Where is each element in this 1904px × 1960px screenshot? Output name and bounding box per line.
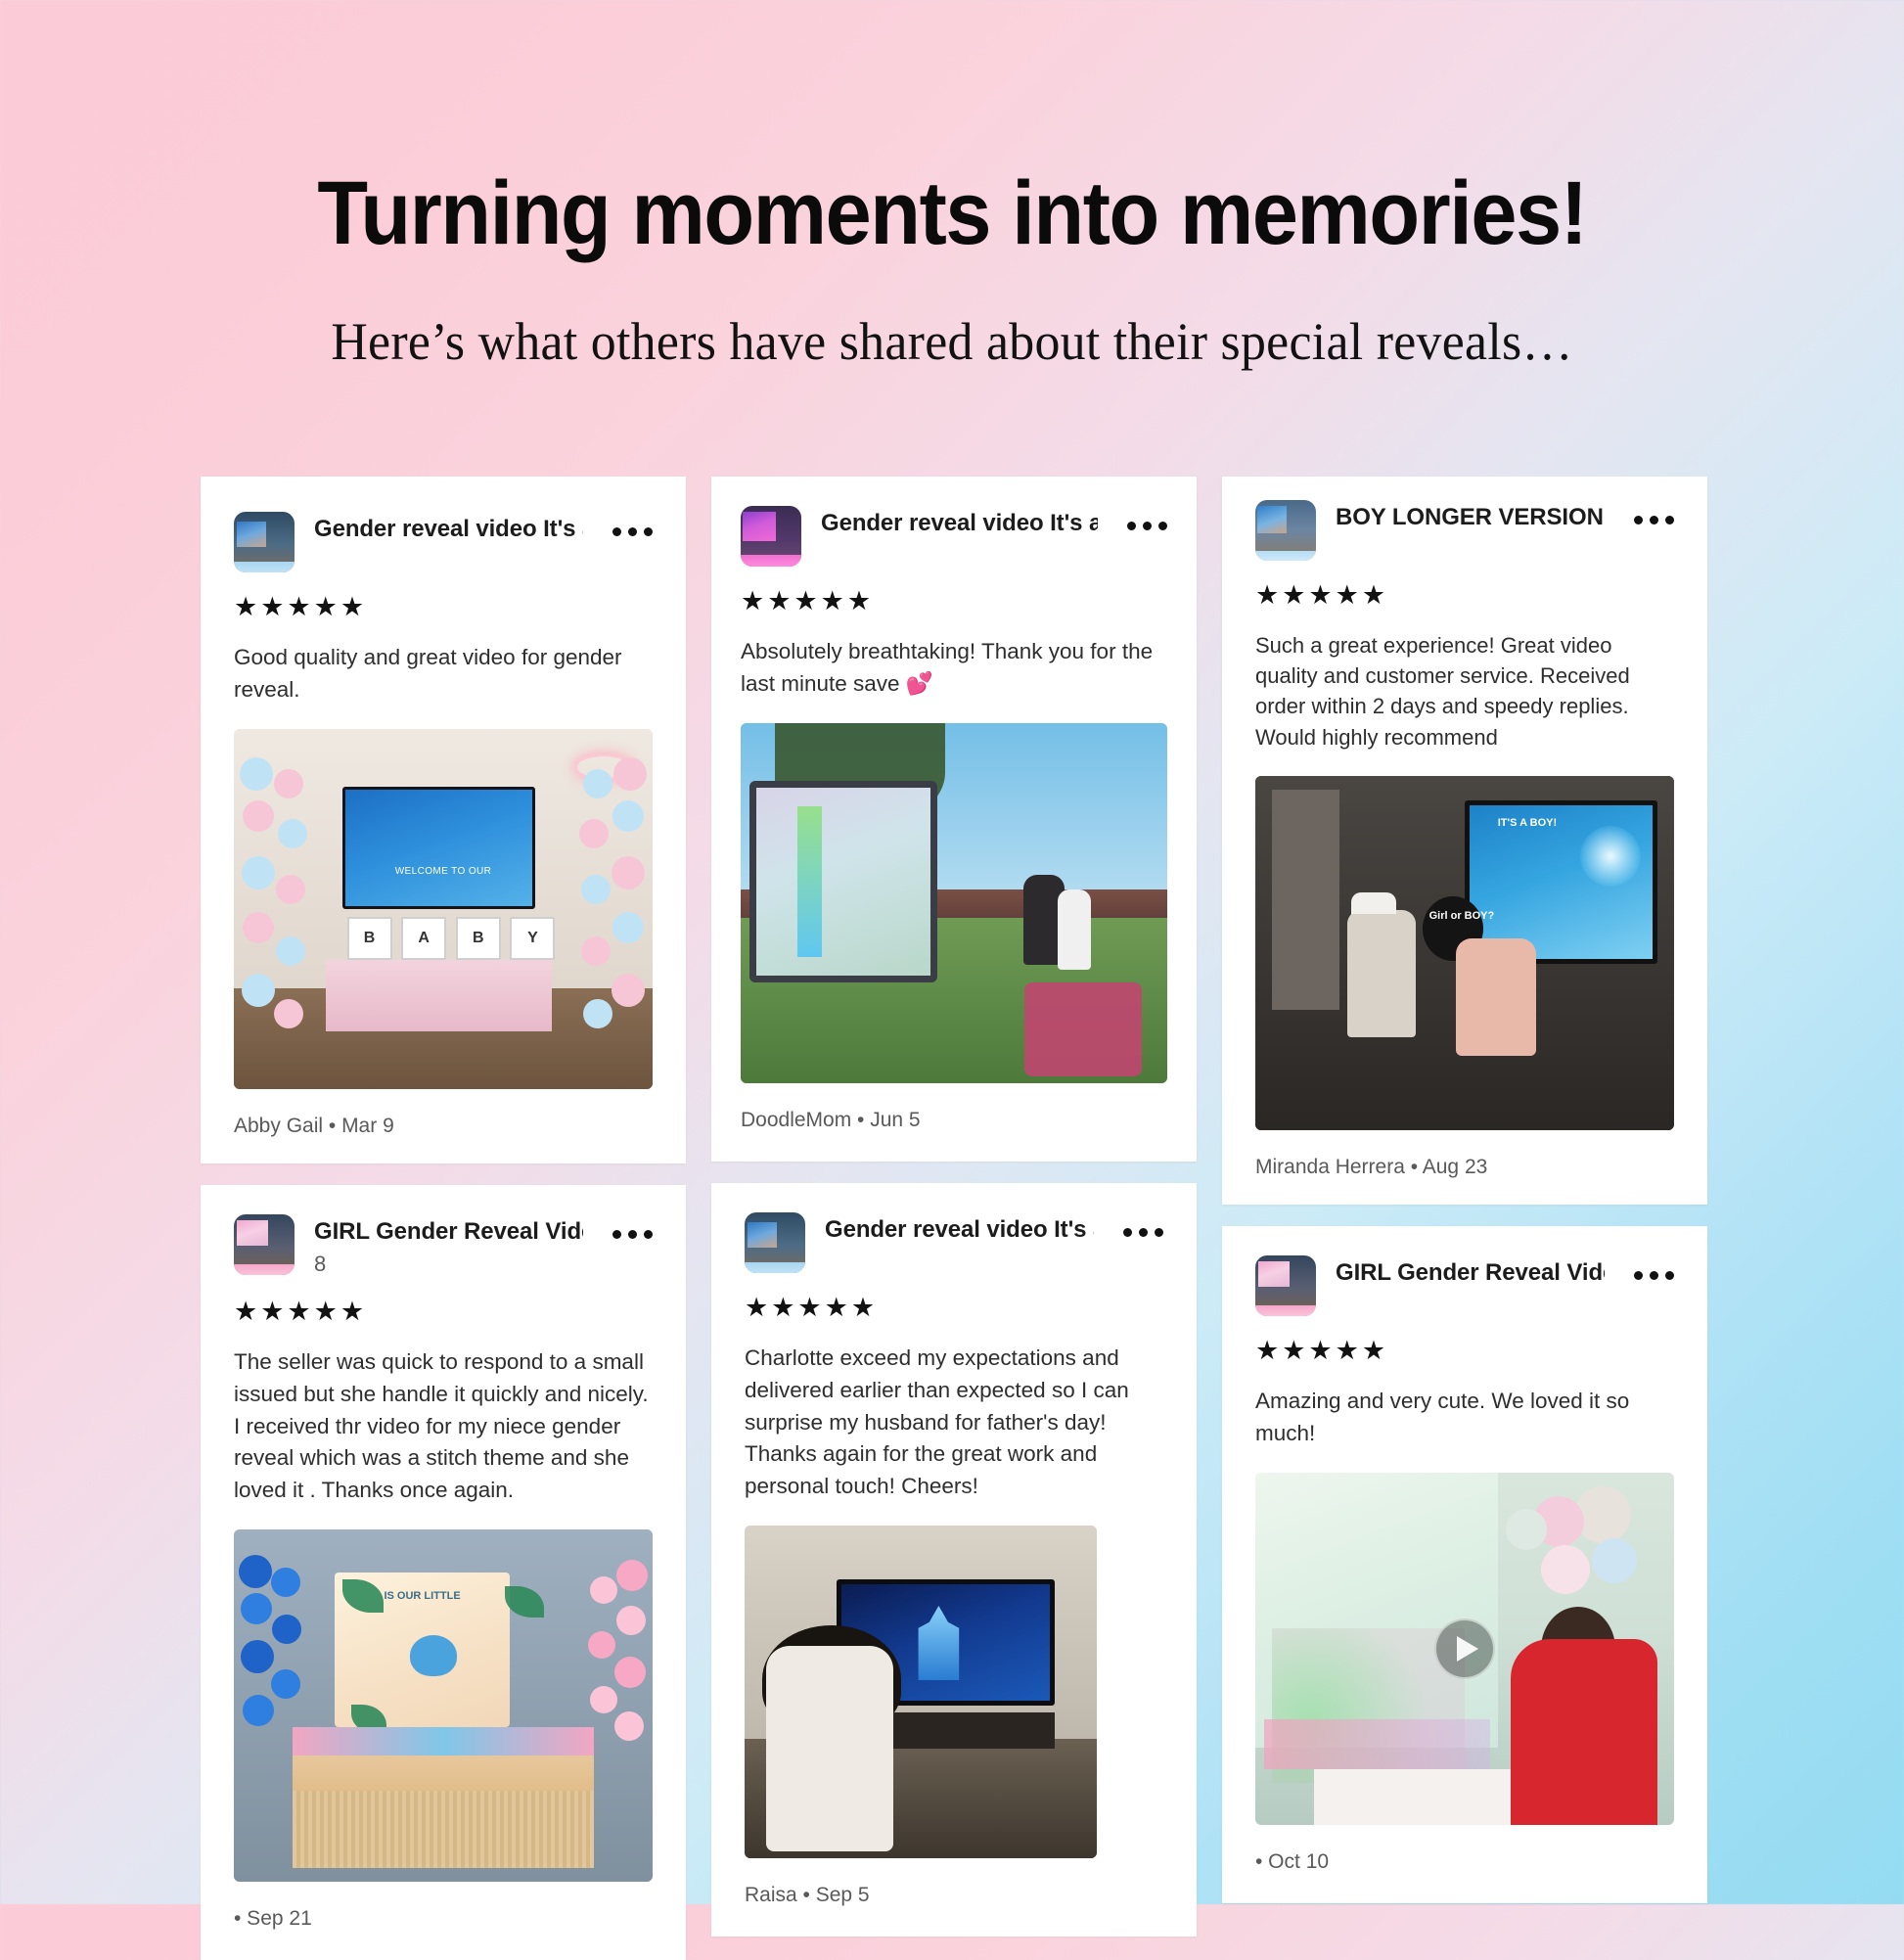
review-product-info: Gender reveal video It's a Boy! Vide… [314,512,583,543]
reviews-grid: Gender reveal video It's a Boy! Vide… ★★… [201,477,1707,1960]
review-text: Good quality and great video for gender … [234,642,653,706]
product-title[interactable]: Gender reveal video It's a Boy! Vide… [825,1216,1094,1244]
review-author: • Sep 21 [234,1907,653,1931]
balloon-arch-left [234,751,326,1060]
product-thumbnail-girl-icon[interactable] [1255,1255,1316,1316]
letter-block: B [347,917,392,960]
product-thumbnail-girl-icon[interactable] [234,1214,295,1275]
photo3-balloon-caption: Girl or BOY? [1429,910,1495,922]
star-rating: ★★★★★ [234,594,653,620]
review-card[interactable]: Gender reveal video It's a Boy! Vide… ★★… [711,1183,1197,1937]
review-card[interactable]: GIRL Gender Reveal Video digital … ★★★★★… [1222,1226,1707,1903]
play-icon[interactable] [1434,1618,1495,1679]
balloon-arch-left [234,1551,318,1762]
review-card-header: BOY LONGER VERSION Gender … [1255,500,1674,561]
review-text: Absolutely breathtaking! Thank you for t… [741,636,1167,700]
review-card-header: Gender reveal video It's a Boy! Vide… [745,1212,1163,1273]
product-title[interactable]: GIRL Gender Reveal Video digital … [314,1218,583,1246]
review-text: The seller was quick to respond to a sma… [234,1346,653,1506]
product-thumbnail-boy-icon[interactable] [745,1212,805,1273]
more-options-icon[interactable] [612,512,653,536]
review-photo[interactable] [745,1526,1097,1858]
photo-outdoor-projector-lawn [741,723,1167,1083]
letter-block: B [456,917,501,960]
product-thumbnail-boy-icon[interactable] [234,512,295,572]
balloon-arch-right [561,751,653,1060]
product-title[interactable]: GIRL Gender Reveal Video digital … [1336,1259,1605,1287]
more-options-icon[interactable] [612,1214,653,1239]
review-card-header: Gender reveal video It's a Boy! Vide… [234,512,653,572]
review-product-info: GIRL Gender Reveal Video digital … [1336,1255,1605,1287]
star-rating: ★★★★★ [741,588,1167,615]
photo-gender-reveal-room: WELCOME TO OUR B A B Y [234,729,653,1089]
more-options-icon[interactable] [1634,500,1674,524]
review-text: Such a great experience! Great video qua… [1255,630,1674,752]
review-author: Miranda Herrera • Aug 23 [1255,1156,1674,1179]
review-video[interactable] [1255,1473,1674,1825]
photo-stitch-party-table: IS OUR LITTLE [234,1529,653,1882]
product-title[interactable]: Gender reveal video It's a Girl! Vide… [821,510,1098,537]
review-text: Charlotte exceed my expectations and del… [745,1343,1163,1502]
review-photo[interactable]: WELCOME TO OUR B A B Y [234,729,653,1089]
review-author: Abby Gail • Mar 9 [234,1115,653,1138]
review-product-info: Gender reveal video It's a Girl! Vide… [821,506,1098,537]
review-product-info: Gender reveal video It's a Boy! Vide… [825,1212,1094,1244]
product-variant: 8 [314,1252,583,1277]
page-title: Turning moments into memories! [76,168,1828,260]
review-card[interactable]: Gender reveal video It's a Boy! Vide… ★★… [201,477,686,1163]
review-card-header: GIRL Gender Reveal Video digital … 8 [234,1214,653,1277]
page-subtitle: Here’s what others have shared about the… [38,313,1866,371]
letter-block: Y [510,917,555,960]
review-author: DoodleMom • Jun 5 [741,1109,1167,1132]
reviews-column-3: BOY LONGER VERSION Gender … ★★★★★ Such a… [1222,477,1707,1903]
review-product-info: GIRL Gender Reveal Video digital … 8 [314,1214,583,1277]
review-card-header: Gender reveal video It's a Girl! Vide… [741,506,1167,567]
review-photo[interactable] [741,723,1167,1083]
photo-child-watching-tv [745,1526,1097,1858]
photo3-tv-caption: IT'S A BOY! [1498,818,1557,830]
more-options-icon[interactable] [1127,506,1167,530]
more-options-icon[interactable] [1123,1212,1163,1237]
review-author: • Oct 10 [1255,1850,1674,1874]
star-rating: ★★★★★ [1255,1338,1674,1364]
review-card[interactable]: Gender reveal video It's a Girl! Vide… ★… [711,477,1197,1162]
product-thumbnail-girl-icon[interactable] [741,506,801,567]
star-rating: ★★★★★ [234,1299,653,1325]
review-photo[interactable]: IT'S A BOY! Girl or BOY? [1255,776,1674,1130]
review-card-header: GIRL Gender Reveal Video digital … [1255,1255,1674,1316]
review-text: Amazing and very cute. We loved it so mu… [1255,1386,1674,1449]
star-rating: ★★★★★ [745,1295,1163,1321]
product-thumbnail-boy-long-icon[interactable] [1255,500,1316,561]
page-header: Turning moments into memories! Here’s wh… [0,0,1904,371]
review-card[interactable]: GIRL Gender Reveal Video digital … 8 ★★★… [201,1185,686,1960]
photo-indoor-tv-reveal: IT'S A BOY! Girl or BOY? [1255,776,1674,1130]
reviews-column-2: Gender reveal video It's a Girl! Vide… ★… [711,477,1197,1937]
product-title[interactable]: BOY LONGER VERSION Gender … [1336,504,1605,531]
product-title[interactable]: Gender reveal video It's a Boy! Vide… [314,516,583,543]
review-card[interactable]: BOY LONGER VERSION Gender … ★★★★★ Such a… [1222,477,1707,1205]
stitch-character-icon [410,1635,457,1676]
review-photo[interactable]: IS OUR LITTLE [234,1529,653,1882]
reviews-column-1: Gender reveal video It's a Boy! Vide… ★★… [201,477,686,1960]
balloon-arch-right [568,1551,653,1762]
review-product-info: BOY LONGER VERSION Gender … [1336,500,1605,531]
star-rating: ★★★★★ [1255,582,1674,609]
more-options-icon[interactable] [1634,1255,1674,1280]
letter-block: A [401,917,446,960]
